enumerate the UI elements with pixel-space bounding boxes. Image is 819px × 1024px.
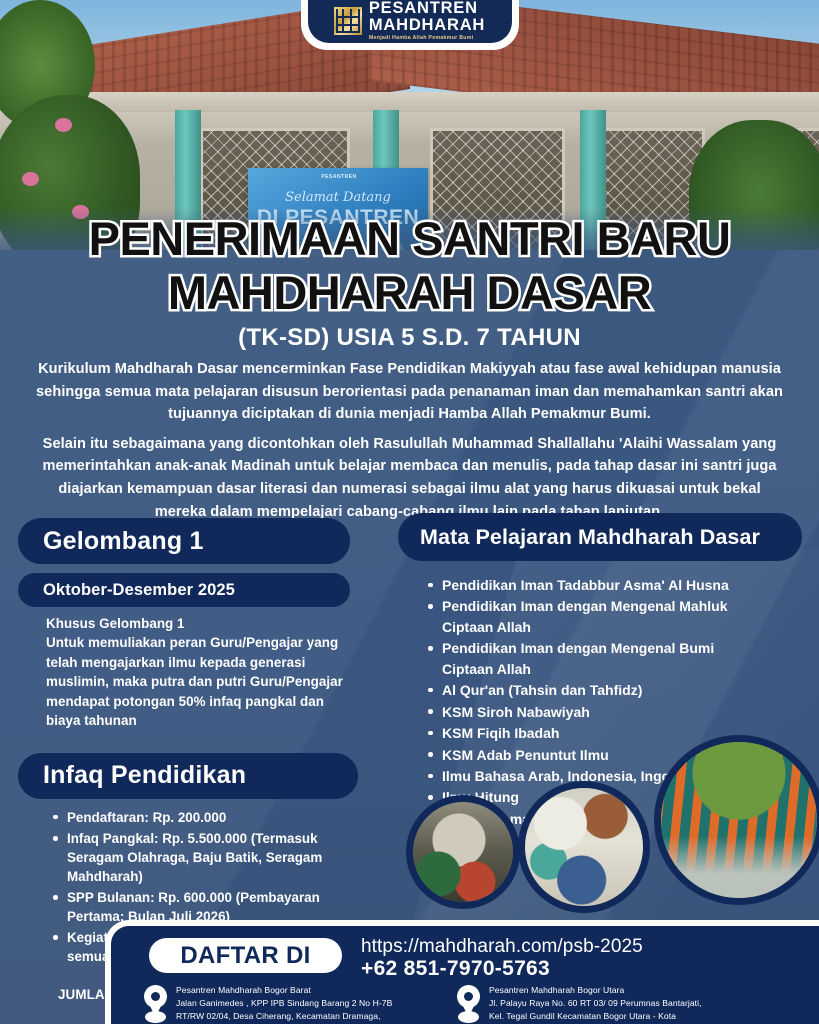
brand-logo-badge: PESANTREN MAHDHARAH Menjadi Hamba Allah … (301, 0, 519, 50)
list-item: Pendaftaran: Rp. 200.000 (50, 808, 355, 827)
location-line-3: RT/RW 02/04, Desa Ciherang, Kecamatan Dr… (176, 1010, 392, 1023)
daftar-di-button[interactable]: DAFTAR DI (149, 938, 342, 973)
gelombang-heading: Gelombang 1 (18, 518, 350, 564)
title-subtitle: (TK-SD) USIA 5 S.D. 7 TAHUN (0, 324, 819, 352)
list-item: Al Qur'an (Tahsin dan Tahfidz) (425, 680, 755, 700)
kufic-logo-icon (334, 7, 362, 35)
list-item: Pendidikan Iman Tadabbur Asma' Al Husna (425, 575, 755, 595)
mapel-heading: Mata Pelajaran Mahdharah Dasar (398, 513, 802, 561)
location-name: Pesantren Mahdharah Bogor Barat (176, 984, 392, 997)
location-name: Pesantren Mahdharah Bogor Utara (489, 984, 702, 997)
infaq-heading: Infaq Pendidikan (18, 753, 358, 799)
title-line-2: MAHDHARAH DASAR (0, 266, 819, 320)
location-line-3: Kel. Tegal Gundil Kecamatan Bogor Utara … (489, 1010, 702, 1023)
location-pin-icon (456, 985, 481, 1023)
banner-logo-text: PESANTREN (284, 174, 394, 181)
flower-1 (55, 118, 72, 132)
list-item: Infaq Pangkal: Rp. 5.500.000 (Termasuk S… (50, 829, 355, 886)
gelombang-date-pill: Oktober-Desember 2025 (18, 573, 350, 607)
brand-line-1: PESANTREN (369, 0, 485, 16)
description-paragraph-2: Selain itu sebagaimana yang dicontohkan … (34, 433, 785, 523)
gelombang-body-line-1: Khusus Gelombang 1 (46, 614, 358, 633)
gelombang-body-line-2: Untuk memuliakan peran Guru/Pengajar yan… (46, 633, 358, 730)
location-pin-icon (143, 985, 168, 1023)
location-line-2: Jl. Palayu Raya No. 60 RT 03/ 09 Perumna… (489, 997, 702, 1010)
location-bogor-utara: Pesantren Mahdharah Bogor Utara Jl. Pala… (456, 984, 786, 1024)
title-line-1: PENERIMAAN SANTRI BARU (0, 212, 819, 266)
flower-2 (22, 172, 39, 186)
photo-gallery (398, 735, 819, 920)
banner-script: Selamat Datang (248, 190, 428, 205)
title-block: PENERIMAAN SANTRI BARU MAHDHARAH DASAR (… (0, 212, 819, 352)
poster-root: PESANTREN Selamat Datang DI PESANTREN Me… (0, 0, 819, 1024)
list-item: Pendidikan Iman dengan Mengenal Bumi Cip… (425, 638, 755, 679)
registration-url[interactable]: https://mahdharah.com/psb-2025 (361, 936, 643, 958)
description-block: Kurikulum Mahdharah Dasar mencerminkan F… (34, 358, 785, 523)
contact-phone[interactable]: +62 851-7970-5763 (361, 957, 550, 981)
list-item: Pendidikan Iman dengan Mengenal Mahluk C… (425, 596, 755, 637)
list-item: KSM Siroh Nabawiyah (425, 702, 755, 722)
brand-line-2: MAHDHARAH (369, 17, 485, 34)
footer-card: DAFTAR DI https://mahdharah.com/psb-2025… (105, 920, 819, 1024)
gelombang-body: Khusus Gelombang 1 Untuk memuliakan pera… (18, 614, 358, 731)
photo-floor-study (518, 781, 650, 913)
location-line-2: Jalan Ganimedes , KPP IPB Sindang Barang… (176, 997, 392, 1010)
photo-classroom (406, 795, 520, 909)
description-paragraph-1: Kurikulum Mahdharah Dasar mencerminkan F… (34, 358, 785, 426)
location-bogor-barat: Pesantren Mahdharah Bogor Barat Jalan Ga… (143, 984, 443, 1024)
photo-group-outdoor (654, 735, 819, 905)
brand-tagline: Menjadi Hamba Allah Pemakmur Bumi (369, 36, 485, 41)
